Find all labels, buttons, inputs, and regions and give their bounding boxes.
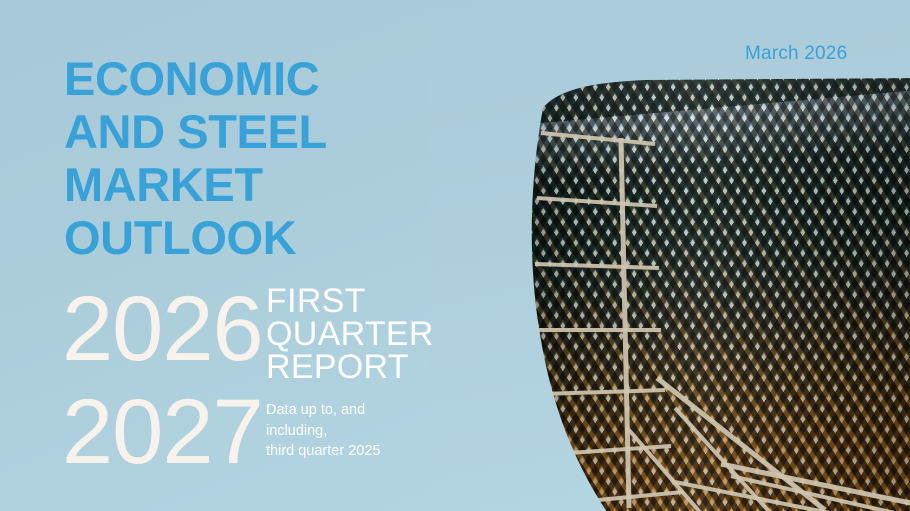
coverage-year-second: 2027 [62, 381, 263, 484]
report-descriptor: FIRST QUARTER REPORT Data up to, and inc… [266, 285, 434, 462]
report-title: FIRST QUARTER REPORT [266, 285, 434, 384]
page-title: ECONOMIC AND STEEL MARKET OUTLOOK [64, 52, 327, 264]
report-data-note: Data up to, and including, third quarter… [266, 400, 434, 462]
report-data-note-line-2: including, [266, 421, 434, 442]
publication-date: March 2026 [745, 43, 847, 65]
report-data-note-line-3: third quarter 2025 [266, 441, 434, 462]
report-title-line-2: QUARTER [266, 318, 434, 351]
page-title-line-3: MARKET [64, 158, 327, 211]
page-title-line-4: OUTLOOK [64, 211, 327, 264]
lattice-sculpture [525, 78, 910, 511]
coverage-years: 2026 2027 [62, 278, 263, 484]
report-title-line-1: FIRST [266, 285, 434, 318]
cover-photograph [430, 0, 910, 511]
structural-beams [525, 78, 910, 511]
page-title-line-1: ECONOMIC [64, 52, 327, 105]
report-title-line-3: REPORT [266, 351, 434, 384]
report-data-note-line-1: Data up to, and [266, 400, 434, 421]
coverage-year-first: 2026 [62, 278, 263, 381]
report-cover: March 2026 ECONOMIC AND STEEL MARKET OUT… [0, 0, 910, 511]
page-title-line-2: AND STEEL [64, 105, 327, 158]
